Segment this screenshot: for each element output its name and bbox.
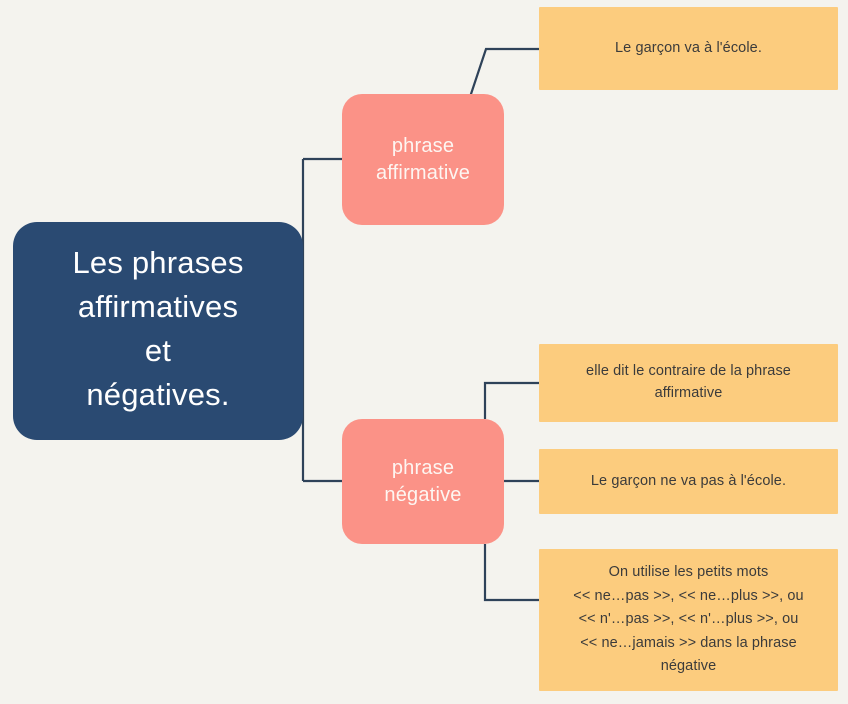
leaf-node-label: On utilise les petits mots << ne…pas >>,… [555,561,822,678]
branch-node-label: phrase négative [352,455,494,509]
leaf-node-label: elle dit le contraire de la phrase affir… [555,361,822,405]
leaf-node-label: Le garçon va à l'école. [555,38,822,60]
connector-negative-to-leaf4 [485,544,539,600]
connector-affirmative-to-leaf1 [470,49,539,97]
branch-node-label: phrase affirmative [352,133,494,187]
branch-node-phrase-affirmative[interactable]: phrase affirmative [342,94,504,225]
leaf-node-negative-definition[interactable]: elle dit le contraire de la phrase affir… [539,344,838,422]
root-node-label: Les phrases affirmatives et négatives. [27,241,289,417]
leaf-node-label: Le garçon ne va pas à l'école. [555,471,822,493]
leaf-node-negation-words-rule[interactable]: On utilise les petits mots << ne…pas >>,… [539,549,838,691]
root-node[interactable]: Les phrases affirmatives et négatives. [13,222,303,440]
branch-node-phrase-negative[interactable]: phrase négative [342,419,504,544]
leaf-node-affirmative-example[interactable]: Le garçon va à l'école. [539,7,838,90]
leaf-node-negative-example[interactable]: Le garçon ne va pas à l'école. [539,449,838,514]
mindmap-canvas: Les phrases affirmatives et négatives. p… [0,0,848,704]
connector-negative-to-leaf2 [485,383,539,419]
